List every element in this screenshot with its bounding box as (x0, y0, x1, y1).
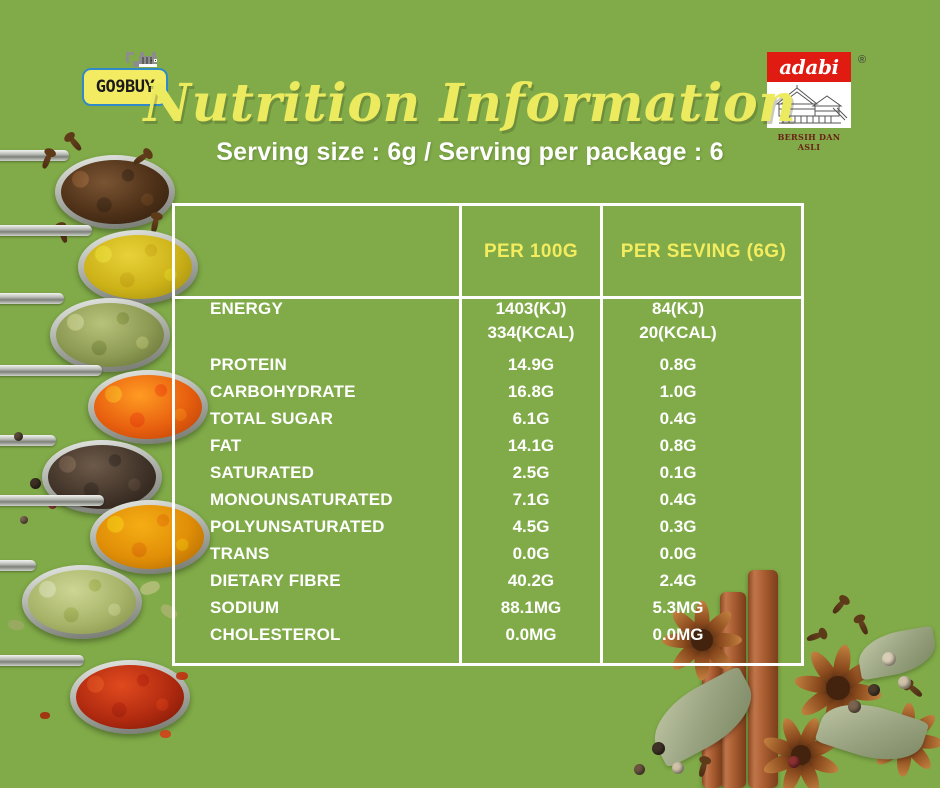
nutrient-label: MONOUNSATURATED (210, 490, 455, 510)
nutrient-label: FAT (210, 436, 455, 456)
nutrient-value-per-serving: 0.3G (603, 517, 753, 537)
nutrient-label: POLYUNSATURATED (210, 517, 455, 537)
peppercorn (48, 500, 57, 509)
table-row: FAT 14.1G 0.8G (172, 436, 804, 463)
peppercorn (20, 516, 28, 524)
registered-trademark-icon: ® (858, 54, 866, 66)
nutrient-value-per-100g: 6.1G (462, 409, 600, 429)
table-row: SODIUM 88.1MG 5.3MG (172, 598, 804, 625)
nutrient-label: TOTAL SUGAR (210, 409, 455, 429)
nutrient-value-per-serving: 1.0G (603, 382, 753, 402)
nutrient-value-per-100g: 16.8G (462, 382, 600, 402)
nutrient-value-per-serving: 0.1G (603, 463, 753, 483)
clove-bud (831, 598, 847, 615)
clove-bud (150, 216, 159, 234)
clove-bud (698, 760, 708, 778)
nutrient-value-per-serving: 2.4G (603, 571, 753, 591)
peppercorn (868, 684, 880, 696)
cardamom-pod (7, 619, 24, 632)
nutrient-value-per-100g: 88.1MG (462, 598, 600, 618)
nutrient-label: SODIUM (210, 598, 455, 618)
chili-flake (176, 672, 188, 680)
nutrient-value-per-100g: 1403(KJ) 334(KCAL) (462, 299, 600, 343)
spoon-handle (0, 435, 56, 446)
nutrient-value-kj: 84(KJ) (652, 299, 704, 318)
table-row: TOTAL SUGAR 6.1G 0.4G (172, 409, 804, 436)
nutrient-value-per-serving: 0.0G (603, 544, 753, 564)
bay-leaf (855, 626, 939, 681)
nutrient-value-kcal: 334(KCAL) (462, 323, 600, 343)
spice-heap-cardamom (28, 570, 136, 634)
spoon-handle (0, 495, 104, 506)
table-row: CARBOHYDRATE 16.8G 1.0G (172, 382, 804, 409)
chili-flake (160, 730, 171, 738)
table-row: DIETARY FIBRE 40.2G 2.4G (172, 571, 804, 598)
table-row: POLYUNSATURATED 4.5G 0.3G (172, 517, 804, 544)
spoon-handle (0, 365, 102, 376)
table-row: CHOLESTEROL 0.0MG 0.0MG (172, 625, 804, 652)
serving-size-line: Serving size : 6g / Serving per package … (0, 138, 940, 167)
peppercorn (30, 478, 41, 489)
nutrient-value-per-serving: 0.0MG (603, 625, 753, 645)
chili-flake (40, 712, 50, 719)
nutrient-label: SATURATED (210, 463, 455, 483)
cardamom-pod (139, 579, 162, 597)
spoon-bowl (22, 565, 142, 639)
spoon-bowl (50, 298, 170, 372)
peppercorn (14, 432, 23, 441)
star-anise (866, 700, 940, 780)
bay-leaf (815, 691, 930, 773)
table-row: TRANS 0.0G 0.0G (172, 544, 804, 571)
nutrient-value-per-100g: 40.2G (462, 571, 600, 591)
table-row: SATURATED 2.5G 0.1G (172, 463, 804, 490)
peppercorn (652, 742, 665, 755)
nutrient-label: CHOLESTEROL (210, 625, 455, 645)
clove-bud (857, 618, 870, 636)
nutrition-poster: GO9BUY adabi (0, 0, 940, 788)
clove-bud (58, 225, 69, 243)
table-row: MONOUNSATURATED 7.1G 0.4G (172, 490, 804, 517)
spoon-bowl (42, 440, 162, 514)
nutrient-value-per-100g: 0.0G (462, 544, 600, 564)
star-anise (790, 640, 886, 736)
page-title: Nutrition Information (0, 78, 940, 130)
table-row: ENERGY 1403(KJ) 334(KCAL) 84(KJ) 20(KCAL… (172, 299, 804, 355)
nutrient-label: ENERGY (210, 299, 455, 319)
peppercorn (898, 676, 911, 689)
nutrient-value-per-serving: 5.3MG (603, 598, 753, 618)
star-anise (758, 712, 844, 788)
nutrient-label: DIETARY FIBRE (210, 571, 455, 591)
spoon-handle (0, 293, 64, 304)
spice-heap-peppercorns (48, 445, 156, 509)
nutrient-value-per-100g: 14.1G (462, 436, 600, 456)
table-row: PROTEIN 14.9G 0.8G (172, 355, 804, 382)
peppercorn (848, 700, 861, 713)
peppercorn (882, 652, 896, 666)
nutrient-value-per-serving: 0.4G (603, 490, 753, 510)
nutrient-value-per-serving: 84(KJ) 20(KCAL) (603, 299, 753, 343)
nutrient-value-per-serving: 0.4G (603, 409, 753, 429)
column-header-per-100g: PER 100G (462, 241, 600, 263)
peppercorn (788, 756, 800, 768)
nutrient-value-per-100g: 0.0MG (462, 625, 600, 645)
nutrient-value-per-100g: 2.5G (462, 463, 600, 483)
peppercorn (672, 762, 684, 774)
nutrient-value-per-100g: 14.9G (462, 355, 600, 375)
nutrient-label: CARBOHYDRATE (210, 382, 455, 402)
clove-bud (806, 631, 824, 642)
nutrient-value-per-100g: 7.1G (462, 490, 600, 510)
spice-heap-herbs (56, 303, 164, 367)
column-header-per-serving: PER SEVING (6G) (603, 241, 804, 263)
spice-heap-cloves (61, 160, 169, 224)
spoon-handle (0, 225, 92, 236)
nutrient-value-kj: 1403(KJ) (496, 299, 567, 318)
spoon-handle (0, 560, 36, 571)
clove-bud (907, 683, 924, 699)
nutrition-table: PER 100G PER SEVING (6G) ENERGY 1403(KJ)… (172, 203, 804, 666)
table-body: ENERGY 1403(KJ) 334(KCAL) 84(KJ) 20(KCAL… (172, 299, 804, 652)
nutrient-label: PROTEIN (210, 355, 455, 375)
nutrient-label: TRANS (210, 544, 455, 564)
nutrient-value-kcal: 20(KCAL) (603, 323, 753, 343)
nutrient-value-per-100g: 4.5G (462, 517, 600, 537)
spoon-handle (0, 655, 84, 666)
nutrient-value-per-serving: 0.8G (603, 355, 753, 375)
peppercorn (634, 764, 645, 775)
spice-heap-chili (76, 665, 184, 729)
spoon-bowl (70, 660, 190, 734)
nutrient-value-per-serving: 0.8G (603, 436, 753, 456)
bay-leaf (641, 666, 765, 769)
table-header-row: PER 100G PER SEVING (6G) (172, 203, 804, 296)
